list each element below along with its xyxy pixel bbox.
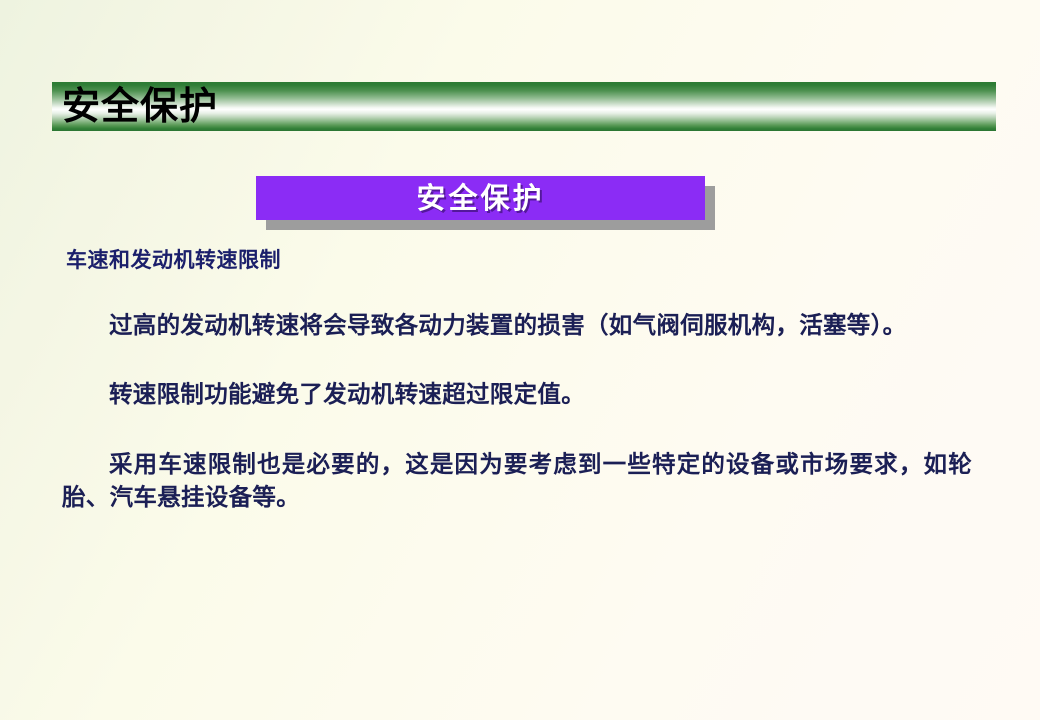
section-banner-label: 安全保护 (416, 184, 544, 213)
section-banner: 安全保护 (256, 176, 715, 230)
slide-title-bar: 安全保护 (52, 82, 996, 131)
slide-title: 安全保护 (62, 87, 218, 125)
slide-content: 车速和发动机转速限制 过高的发动机转速将会导致各动力装置的损害（如气阀伺服机构，… (62, 248, 972, 515)
content-paragraph: 采用车速限制也是必要的，这是因为要考虑到一些特定的设备或市场要求，如轮胎、汽车悬… (62, 448, 972, 515)
content-heading: 车速和发动机转速限制 (66, 248, 972, 271)
section-banner-box: 安全保护 (256, 176, 705, 220)
content-paragraph: 过高的发动机转速将会导致各动力装置的损害（如气阀伺服机构，活塞等）。 (62, 309, 972, 342)
content-paragraph: 转速限制功能避免了发动机转速超过限定值。 (62, 378, 972, 411)
slide-canvas: 安全保护 安全保护 车速和发动机转速限制 过高的发动机转速将会导致各动力装置的损… (0, 0, 1040, 720)
